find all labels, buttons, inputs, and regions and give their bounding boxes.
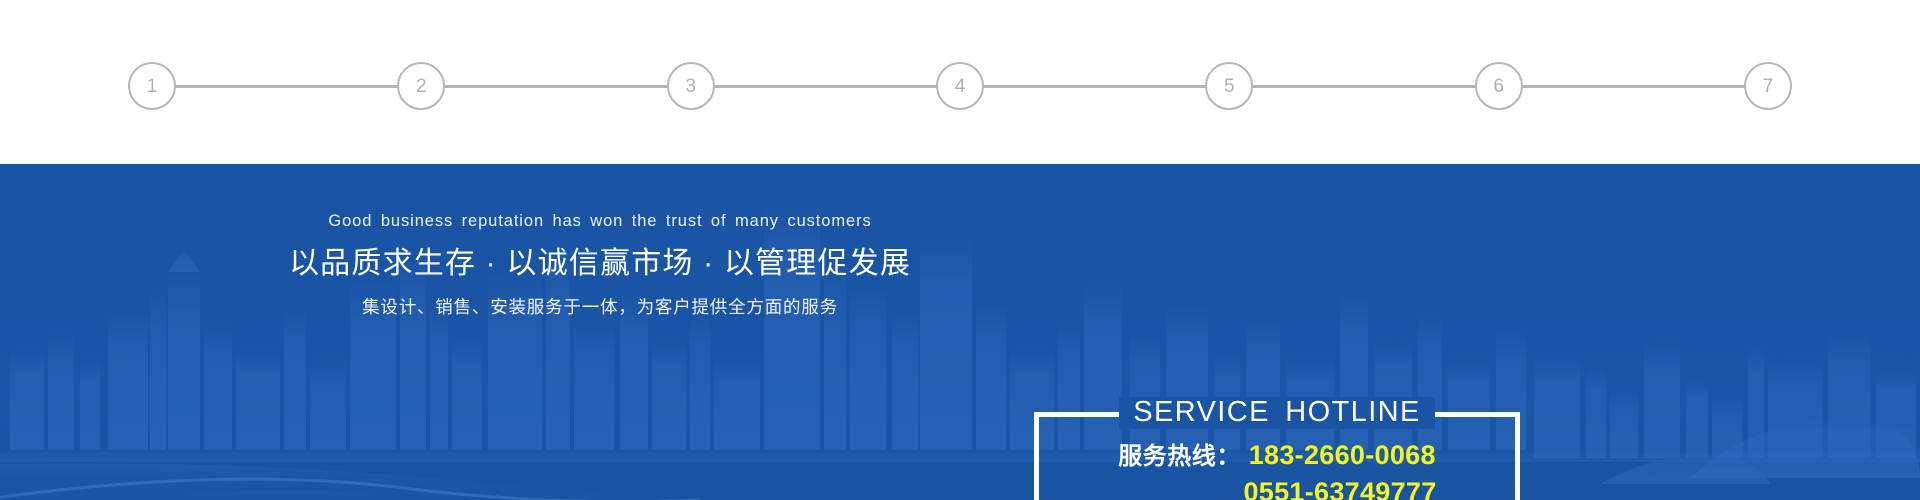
step-node-3[interactable]: 3 [667,62,715,110]
hotline-label: 服务热线： [1118,436,1241,471]
step-indicator-bar: 1234567 [0,0,1920,164]
step-node-label: 4 [955,77,966,96]
step-node-label: 5 [1224,77,1235,96]
step-node-5[interactable]: 5 [1205,62,1253,110]
step-node-label: 1 [147,77,158,96]
slogan-block: Good business reputation has won the tru… [280,212,920,318]
step-indicator-section: 1234567 [0,0,1920,164]
hotline-row-primary: 服务热线： 183-2660-0068 [1034,436,1520,471]
hotline-number-primary[interactable]: 183-2660-0068 [1249,440,1436,471]
step-node-2[interactable]: 2 [397,62,445,110]
step-node-label: 2 [416,77,427,96]
step-node-label: 6 [1493,77,1504,96]
slogan-chinese-main: 以品质求生存 · 以诚信赢市场 · 以管理促发展 [280,247,920,282]
slogan-chinese-sub: 集设计、销售、安装服务于一体，为客户提供全方面的服务 [280,297,920,318]
promo-banner-section: Good business reputation has won the tru… [0,164,1920,500]
step-node-7[interactable]: 7 [1744,62,1792,110]
hotline-number-secondary[interactable]: 0551-63749777 [1243,477,1436,500]
step-node-label: 3 [685,77,696,96]
step-node-4[interactable]: 4 [936,62,984,110]
hotline-numbers-list: 服务热线： 183-2660-0068 0551-63749777 [1034,436,1520,500]
step-node-label: 7 [1763,77,1774,96]
step-node-1[interactable]: 1 [128,62,176,110]
hotline-row-secondary: 0551-63749777 [1034,477,1520,500]
step-node-6[interactable]: 6 [1475,62,1523,110]
slogan-english: Good business reputation has won the tru… [280,212,920,230]
